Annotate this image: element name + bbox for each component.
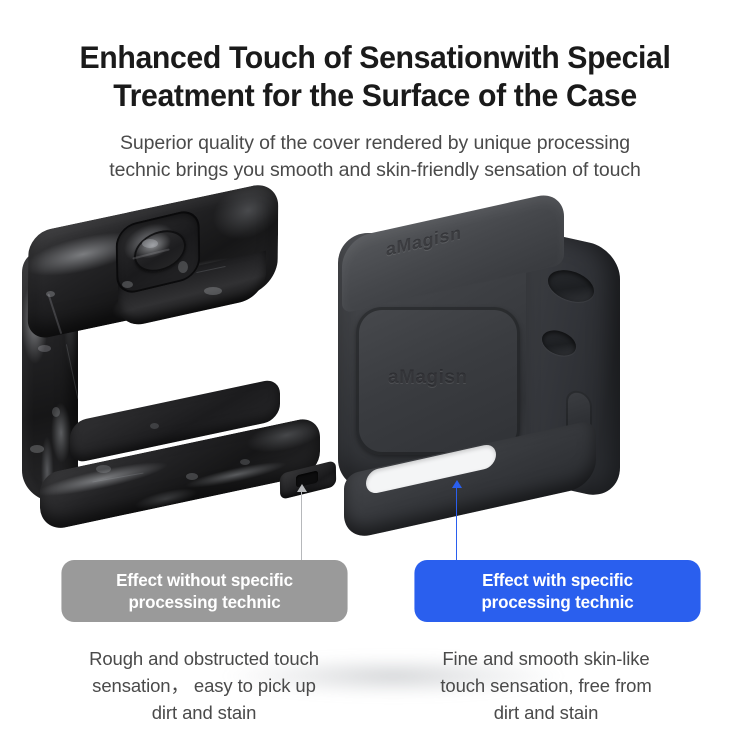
- caption-left-line-1: Rough and obstructed touch: [34, 645, 374, 672]
- header-block: Enhanced Touch of Sensationwith Special …: [0, 0, 750, 184]
- dust-speck: [204, 287, 222, 295]
- caption-right-line-1: Fine and smooth skin-like: [376, 645, 716, 672]
- page-title: Enhanced Touch of Sensationwith Special …: [0, 38, 750, 114]
- caption-left-line-2: sensation， easy to pick up: [34, 672, 374, 699]
- subtitle-line-2: technic brings you smooth and skin-frien…: [0, 157, 750, 184]
- dust-speck: [186, 473, 198, 480]
- title-line-1: Enhanced Touch of Sensationwith Special: [15, 38, 735, 76]
- product-photo: aMagisn aMagisn: [0, 195, 750, 560]
- brand-logo-lens: aMagisn: [388, 367, 468, 389]
- caption-left-line-3: dirt and stain: [34, 699, 374, 726]
- subtitle-line-1: Superior quality of the cover rendered b…: [0, 130, 750, 157]
- pill-left-line-2: processing technic: [116, 591, 293, 613]
- smooth-treated-case: aMagisn aMagisn: [330, 195, 730, 540]
- pill-left-line-1: Effect without specific: [116, 569, 293, 591]
- pill-right-line-2: processing technic: [481, 591, 633, 613]
- dust-speck: [122, 281, 133, 288]
- pill-right-line-1: Effect with specific: [481, 569, 633, 591]
- label-pill-with-treatment: Effect with specific processing technic: [414, 560, 700, 622]
- pointer-line-right: [456, 487, 457, 562]
- dust-speck: [96, 465, 111, 473]
- dust-speck: [52, 407, 60, 417]
- pointer-line-left: [301, 490, 302, 562]
- title-line-2: Treatment for the Surface of the Case: [15, 76, 735, 114]
- dust-speck: [142, 239, 158, 248]
- dust-speck: [178, 261, 188, 273]
- caption-right-line-3: dirt and stain: [376, 699, 716, 726]
- caption-right-line-2: touch sensation, free from: [376, 672, 716, 699]
- caption-with-treatment: Fine and smooth skin-like touch sensatio…: [376, 645, 716, 726]
- dust-speck: [30, 445, 44, 453]
- page-subtitle: Superior quality of the cover rendered b…: [0, 130, 750, 184]
- dust-speck: [38, 345, 51, 352]
- dust-speck: [240, 459, 250, 465]
- caption-without-treatment: Rough and obstructed touch sensation， ea…: [34, 645, 374, 726]
- label-pill-without-treatment: Effect without specific processing techn…: [61, 560, 347, 622]
- dust-speck: [150, 423, 159, 429]
